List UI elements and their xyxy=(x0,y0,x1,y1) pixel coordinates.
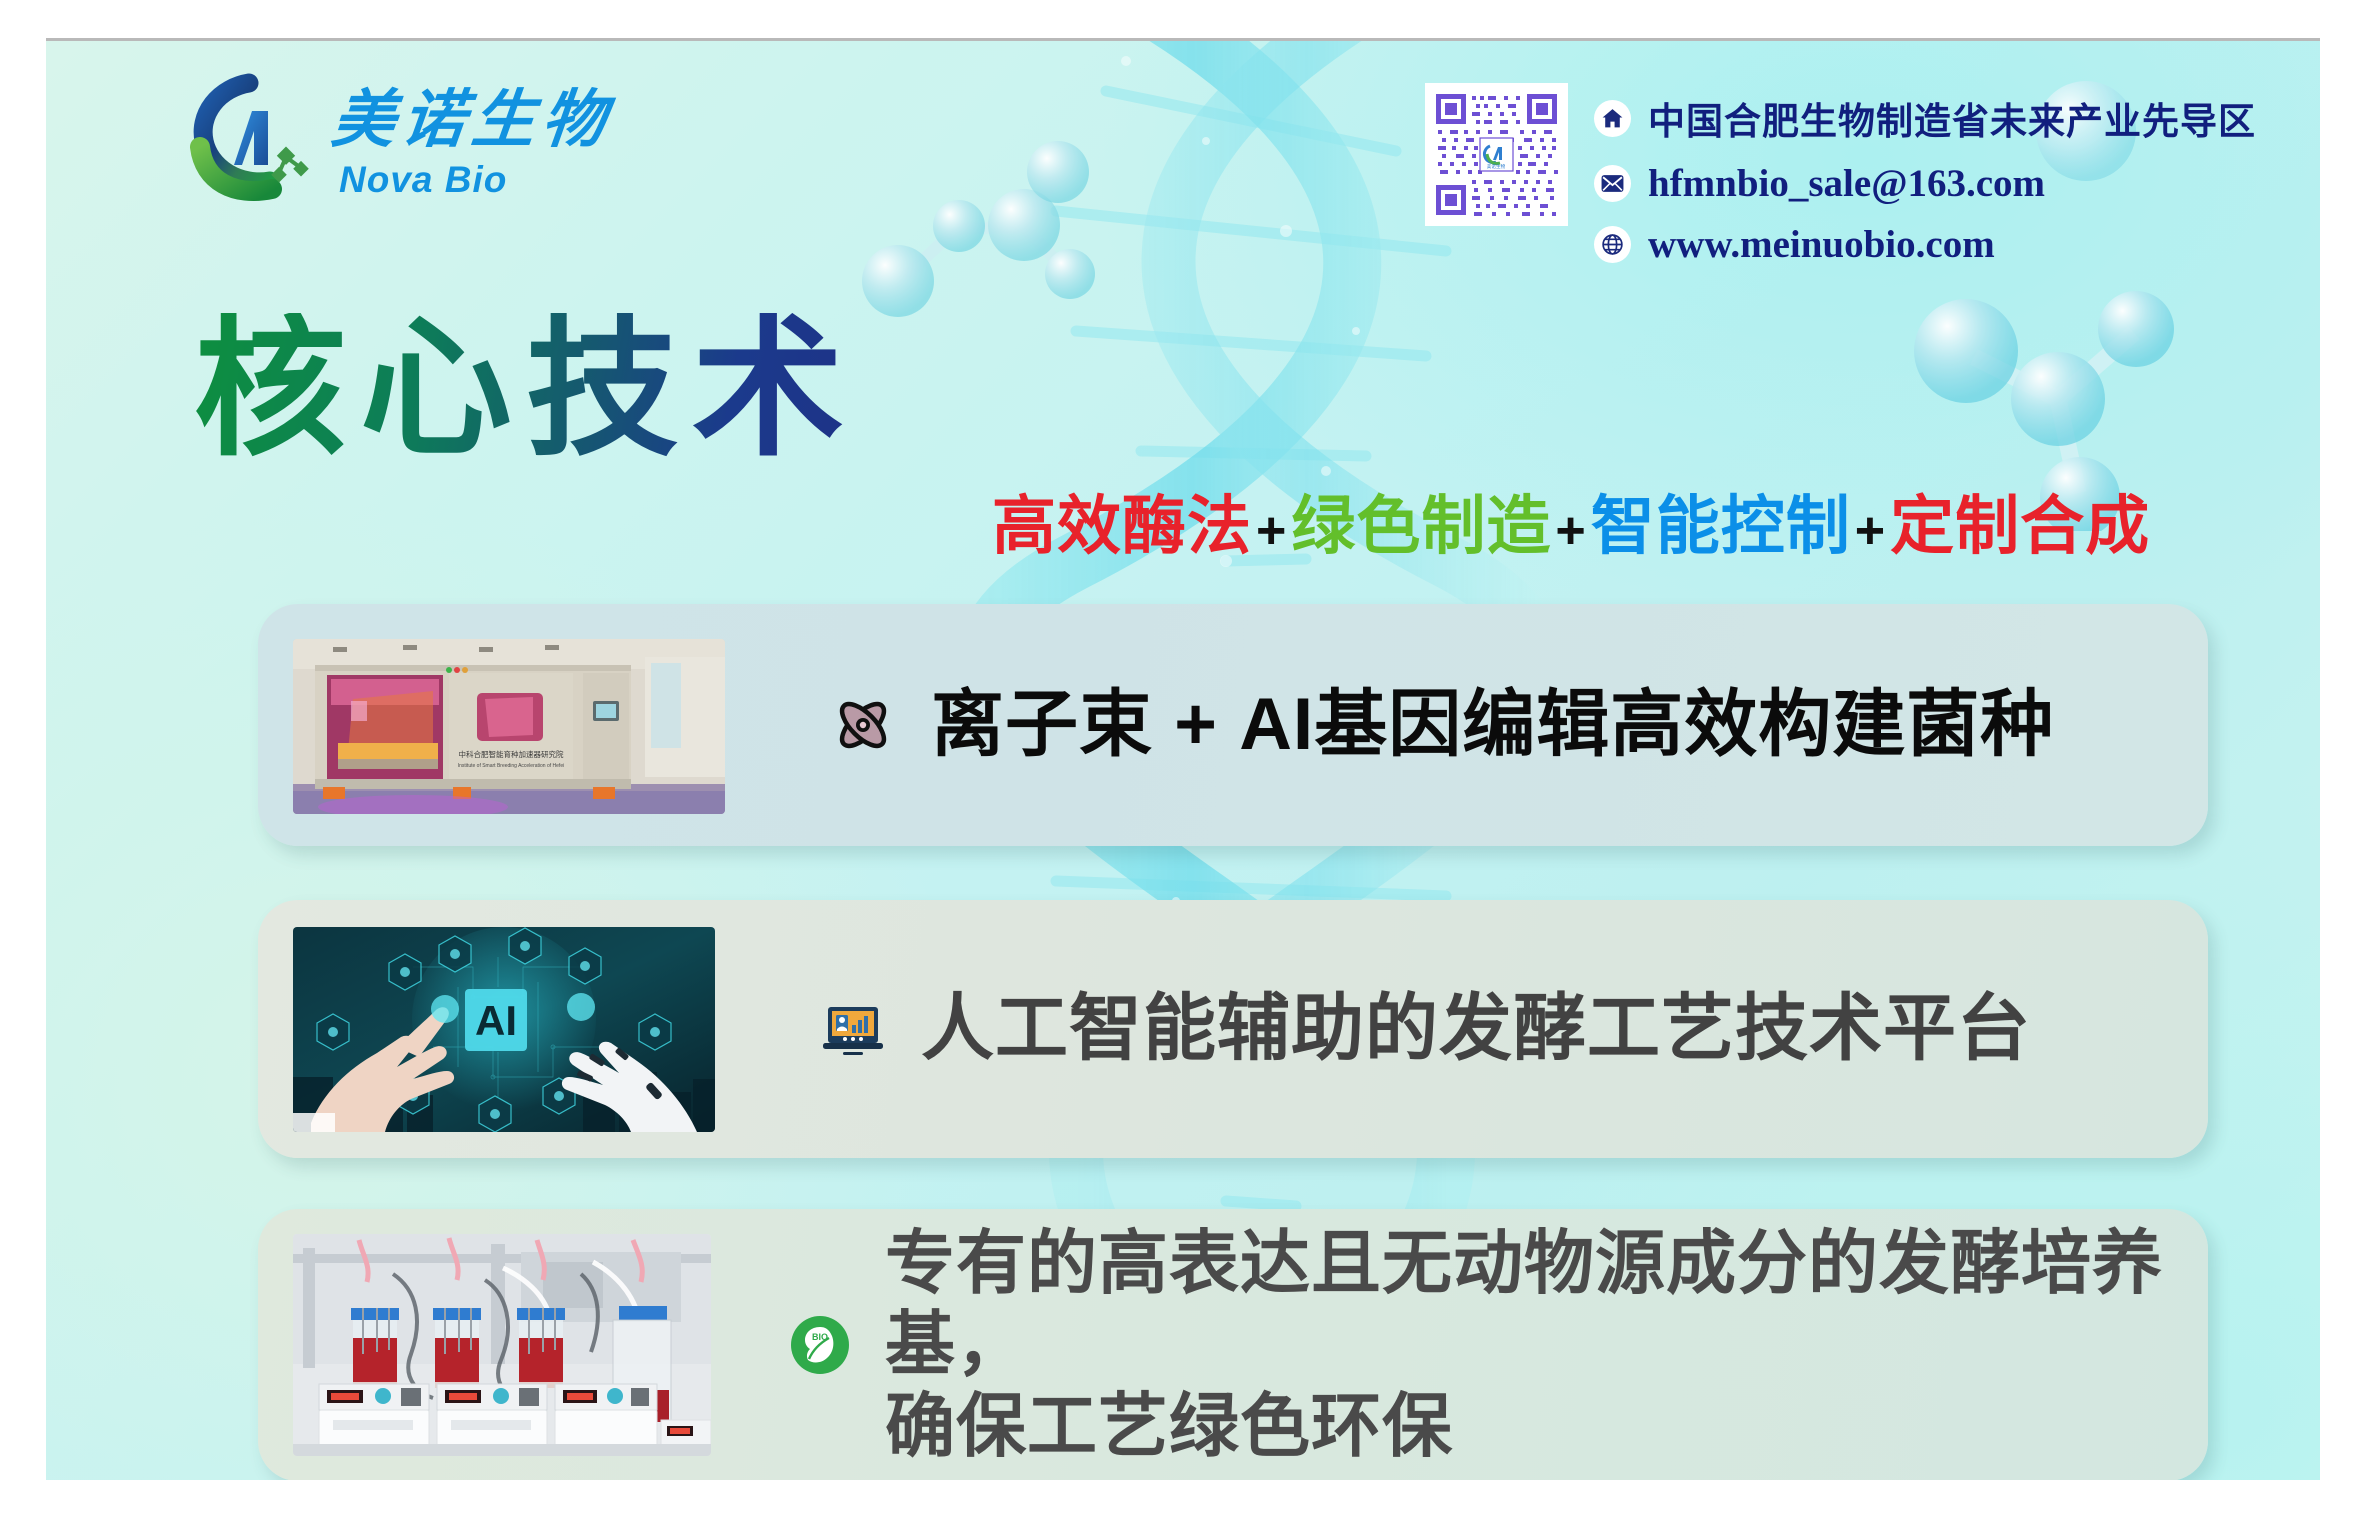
brand-logo[interactable]: 美诺生物 Nova Bio xyxy=(174,69,612,204)
feature-card-1-text: 离子束 + AI基因编辑高效构建菌种 xyxy=(931,683,2054,768)
qr-code-icon[interactable]: 美诺生物 xyxy=(1425,83,1568,226)
tagline-part-4: 定制合成 xyxy=(1890,490,2150,562)
contact-row-website[interactable]: www.meinuobio.com xyxy=(1594,222,2256,267)
svg-text:美诺生物: 美诺生物 xyxy=(1487,163,1506,170)
laptop-dashboard-icon xyxy=(819,995,887,1063)
home-icon xyxy=(1594,100,1631,137)
contact-email-text: hfmnbio_sale@163.com xyxy=(1648,161,2045,206)
feature-card-2-text: 人工智能辅助的发酵工艺技术平台 xyxy=(921,987,2031,1072)
contact-address-text: 中国合肥生物制造省未来产业先导区 xyxy=(1648,91,2256,145)
plant-growth-chamber-photo: 中科合肥智能育种加速器研究院 Institute of Smart Breedi… xyxy=(293,639,725,814)
tagline-plus-3: + xyxy=(1851,502,1890,560)
atom-icon xyxy=(829,691,897,759)
bio-leaf-badge-icon: BIO xyxy=(789,1314,851,1376)
tagline: 高效酶法+绿色制造+智能控制+定制合成 xyxy=(992,493,2150,560)
tagline-part-1: 高效酶法 xyxy=(992,490,1252,562)
globe-icon xyxy=(1594,226,1631,263)
page-title: 核心技术 xyxy=(194,313,858,465)
ai-human-robot-hands-photo: AI xyxy=(293,927,715,1132)
contact-lines: 中国合肥生物制造省未来产业先导区 hfmnbio_sale@163.com xyxy=(1594,83,2256,267)
svg-text:BIO: BIO xyxy=(812,1332,828,1342)
tagline-plus-1: + xyxy=(1252,502,1291,560)
nova-bio-logo-icon xyxy=(174,69,324,204)
feature-card-1[interactable]: 中科合肥智能育种加速器研究院 Institute of Smart Breedi… xyxy=(258,604,2208,846)
contact-row-email[interactable]: hfmnbio_sale@163.com xyxy=(1594,161,2256,206)
email-icon xyxy=(1594,165,1631,202)
svg-text:AI: AI xyxy=(475,997,517,1044)
svg-text:Institute of Smart Breeding Ac: Institute of Smart Breeding Acceleration… xyxy=(458,763,564,769)
contact-block: 美诺生物 中国合肥生物制造省未来产业先导区 xyxy=(1425,83,2256,267)
tagline-plus-2: + xyxy=(1551,502,1590,560)
tagline-part-3: 智能控制 xyxy=(1591,490,1851,562)
feature-card-3-text: 专有的高表达且无动物源成分的发酵培养基， 确保工艺绿色环保 xyxy=(885,1223,2208,1467)
slide-canvas: 美诺生物 Nova Bio xyxy=(46,38,2320,1480)
feature-card-2[interactable]: AI xyxy=(258,900,2208,1158)
logo-chinese-name: 美诺生物 xyxy=(329,89,616,152)
slide-root: 美诺生物 Nova Bio xyxy=(0,0,2366,1524)
svg-text:中科合肥智能育种加速器研究院: 中科合肥智能育种加速器研究院 xyxy=(459,749,564,759)
contact-row-address: 中国合肥生物制造省未来产业先导区 xyxy=(1594,91,2256,145)
tagline-part-2: 绿色制造 xyxy=(1291,490,1551,562)
logo-english-name: Nova Bio xyxy=(339,161,612,198)
feature-card-3[interactable]: BIO 专有的高表达且无动物源成分的发酵培养基， 确保工艺绿色环保 xyxy=(258,1209,2208,1480)
contact-website-text: www.meinuobio.com xyxy=(1648,222,1995,267)
bioreactor-fermenters-photo xyxy=(293,1234,711,1456)
